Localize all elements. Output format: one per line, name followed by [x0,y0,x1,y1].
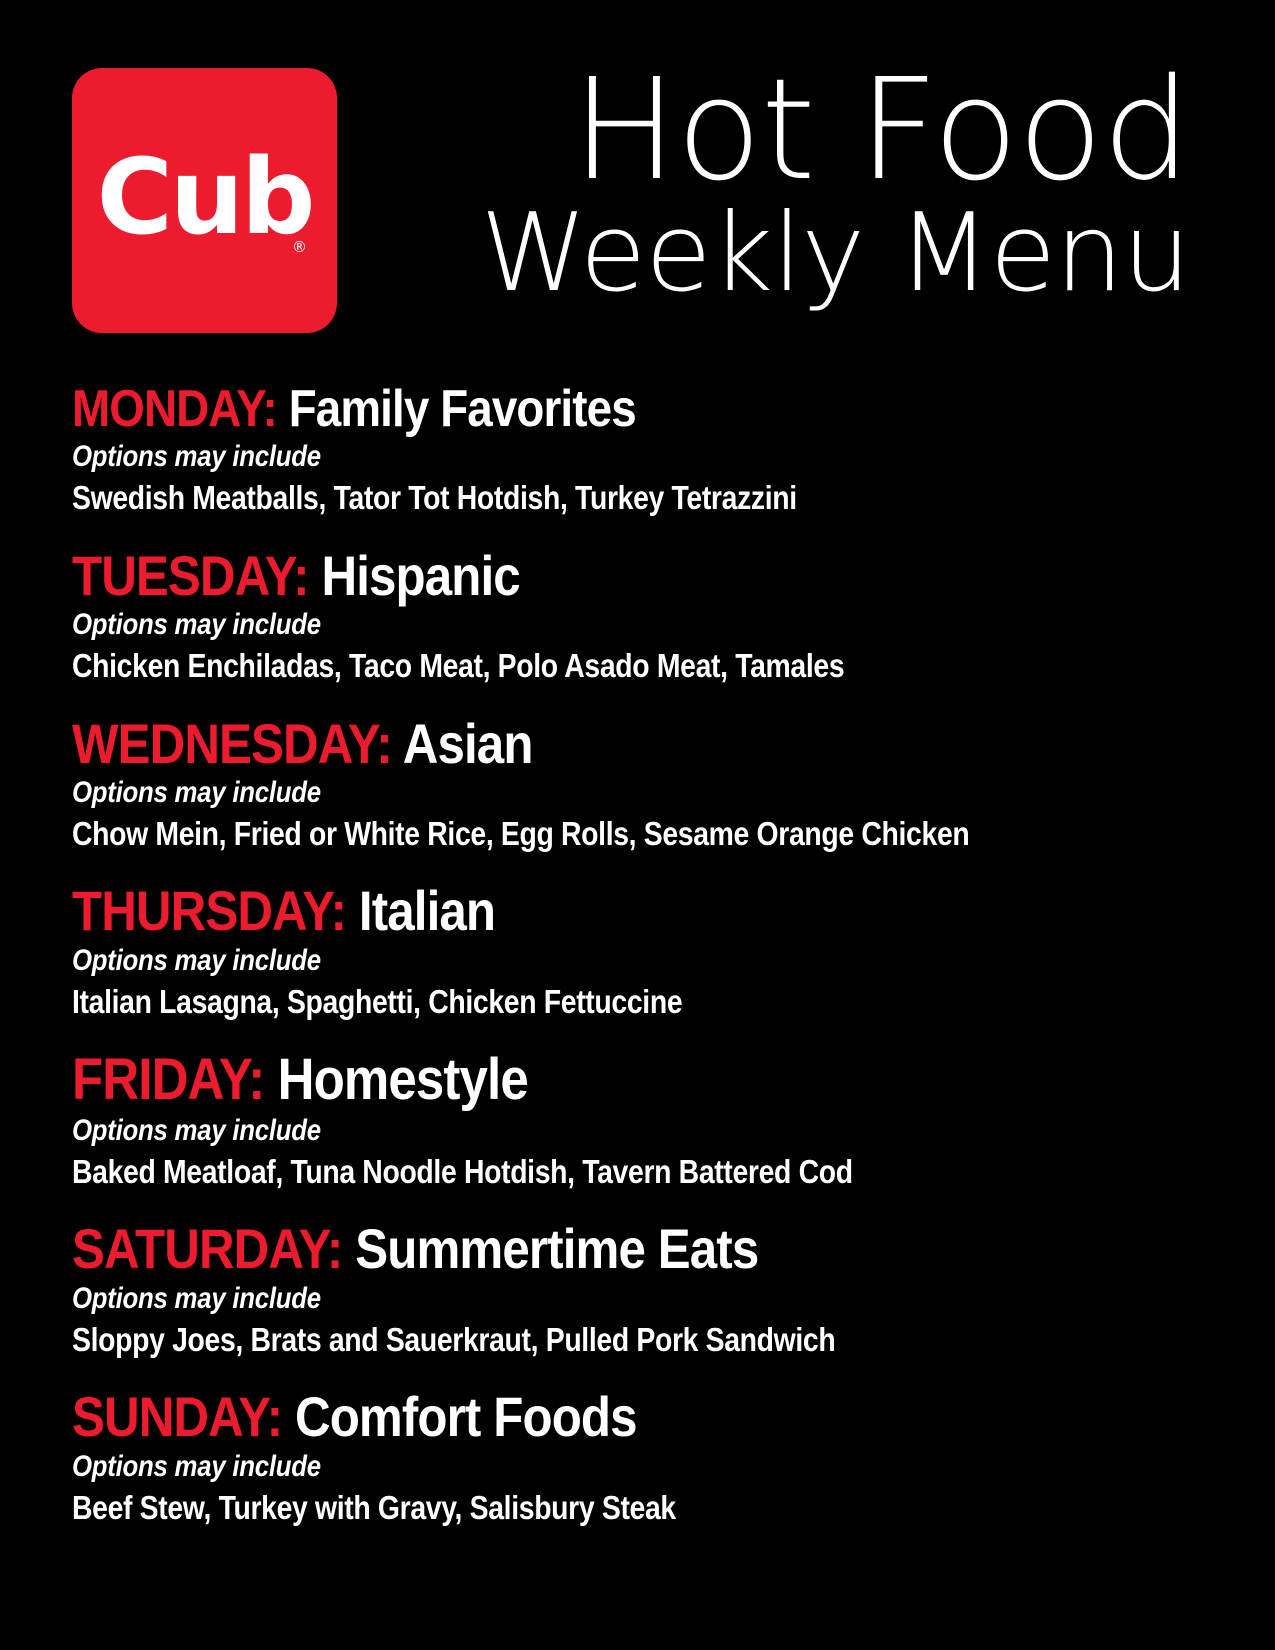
options-items: Sloppy Joes, Brats and Sauerkraut, Pulle… [72,1318,1052,1362]
day-heading: WEDNESDAY: Asian [72,714,1075,773]
page-title-primary: Hot Food [390,60,1190,203]
cub-logo: Cub ® [72,68,337,333]
day-label: SUNDAY: [72,1385,295,1448]
day-label: TUESDAY: [72,544,321,607]
day-cuisine: Hispanic [321,544,519,607]
day-heading: SATURDAY: Summertime Eats [72,1219,1075,1278]
day-label: MONDAY: [72,380,289,438]
options-items: Chow Mein, Fried or White Rice, Egg Roll… [72,812,1052,856]
options-label: Options may include [72,1279,1052,1318]
options-label: Options may include [72,1447,1052,1486]
day-cuisine: Summertime Eats [355,1217,758,1280]
weekly-menu-list: MONDAY: Family Favorites Options may inc… [72,382,1212,1543]
day-heading: MONDAY: Family Favorites [72,382,1075,437]
day-heading: FRIDAY: Homestyle [72,1049,1075,1110]
day-heading: THURSDAY: Italian [72,881,1075,940]
options-items: Italian Lasagna, Spaghetti, Chicken Fett… [72,980,1052,1024]
day-label: FRIDAY: [72,1047,278,1112]
menu-day-thursday: THURSDAY: Italian Options may include It… [72,881,1212,1023]
menu-day-saturday: SATURDAY: Summertime Eats Options may in… [72,1219,1212,1361]
menu-day-sunday: SUNDAY: Comfort Foods Options may includ… [72,1387,1212,1529]
day-label: SATURDAY: [72,1217,355,1280]
menu-poster: Cub ® Hot Food Weekly Menu MONDAY: Famil… [0,0,1275,1650]
cub-logo-wordmark: Cub [72,144,337,248]
day-cuisine: Family Favorites [289,380,636,438]
registered-trademark-icon: ® [292,240,307,255]
options-label: Options may include [72,605,1052,644]
poster-header: Cub ® Hot Food Weekly Menu [72,68,1192,350]
poster-title: Hot Food Weekly Menu [390,60,1190,310]
menu-day-wednesday: WEDNESDAY: Asian Options may include Cho… [72,714,1212,856]
day-cuisine: Italian [359,879,495,942]
options-items: Beef Stew, Turkey with Gravy, Salisbury … [72,1486,1052,1530]
options-label: Options may include [72,1111,1052,1150]
options-label: Options may include [72,437,1052,476]
options-items: Swedish Meatballs, Tator Tot Hotdish, Tu… [72,476,1052,520]
options-items: Baked Meatloaf, Tuna Noodle Hotdish, Tav… [72,1150,1052,1194]
day-label: THURSDAY: [72,879,359,942]
day-cuisine: Comfort Foods [295,1385,637,1448]
menu-day-friday: FRIDAY: Homestyle Options may include Ba… [72,1049,1212,1193]
menu-day-tuesday: TUESDAY: Hispanic Options may include Ch… [72,546,1212,688]
page-title-secondary: Weekly Menu [390,197,1190,310]
day-cuisine: Homestyle [278,1047,528,1112]
day-label: WEDNESDAY: [72,712,403,775]
options-label: Options may include [72,941,1052,980]
day-heading: SUNDAY: Comfort Foods [72,1387,1075,1446]
day-heading: TUESDAY: Hispanic [72,546,1075,605]
menu-day-monday: MONDAY: Family Favorites Options may inc… [72,382,1212,520]
options-label: Options may include [72,773,1052,812]
day-cuisine: Asian [403,712,533,775]
options-items: Chicken Enchiladas, Taco Meat, Polo Asad… [72,644,1052,688]
